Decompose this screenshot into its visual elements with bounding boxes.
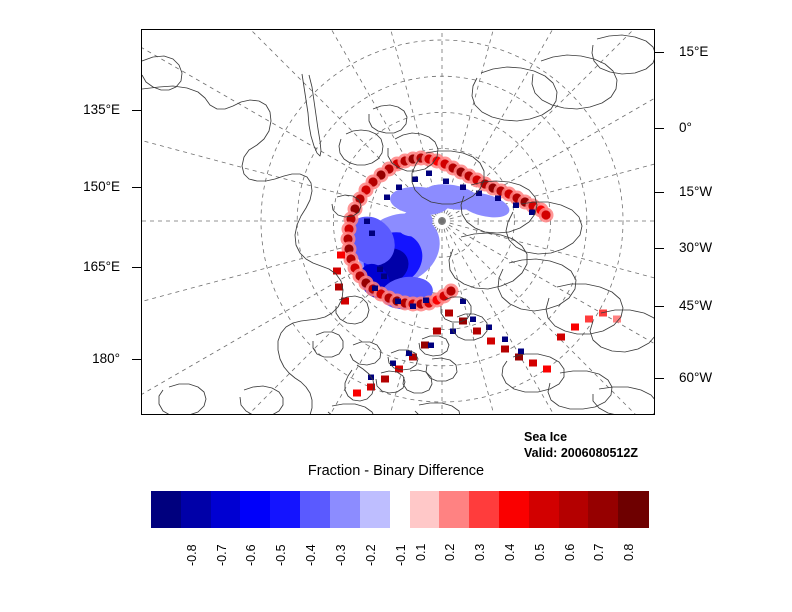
colorbar-tick-label: 0.1 [415, 544, 428, 561]
coastline-segment [502, 354, 564, 392]
coastline-segment [369, 105, 407, 133]
right-axis-label: 45°W [679, 299, 712, 313]
coastline-segment [332, 195, 361, 217]
coastline-segment [415, 403, 460, 414]
right-axis-label: 0° [679, 121, 692, 135]
right-axis-tick [655, 192, 664, 193]
left-axis-label: 150°E [60, 180, 120, 194]
coastline-segment [449, 233, 527, 289]
variable-label: Sea Ice [524, 430, 638, 446]
coastline-segment [142, 56, 182, 90]
left-axis-label: 165°E [60, 260, 120, 274]
colorbar-tick-label: -0.2 [365, 544, 378, 566]
colorbar-tick-label: -0.1 [395, 544, 408, 566]
colorbar-segment-negative[interactable] [181, 491, 211, 528]
coastline-segment [339, 130, 383, 165]
field-annotation: Sea Ice Valid: 2006080512Z [524, 430, 638, 461]
colorbar[interactable] [151, 491, 648, 528]
coastline-segment [403, 370, 432, 393]
colorbar-segment-negative[interactable] [300, 491, 330, 528]
coastline-segment [441, 297, 471, 322]
colorbar-segment-negative[interactable] [240, 491, 270, 528]
coastline-segment [453, 314, 487, 340]
coastline-segment [302, 74, 321, 156]
left-axis-label: 135°E [60, 103, 120, 117]
coastline-segment [592, 35, 654, 74]
colorbar-segment-negative[interactable] [360, 491, 390, 528]
left-axis-tick [132, 187, 141, 188]
coastline-segment [590, 310, 654, 352]
colorbar-segment-positive[interactable] [529, 491, 559, 528]
colorbar-segment-positive[interactable] [588, 491, 618, 528]
colorbar-tick-label: 0.2 [444, 544, 457, 561]
colorbar-segment-positive[interactable] [559, 491, 589, 528]
colorbar-tick-label: -0.5 [275, 544, 288, 566]
coastline-segment [546, 284, 623, 334]
right-axis-tick [655, 378, 664, 379]
coastline-segment [548, 371, 612, 409]
left-axis-label: 180° [60, 352, 120, 366]
right-axis-label: 15°E [679, 45, 708, 59]
valid-time-label: Valid: 2006080512Z [524, 446, 638, 462]
coastline-segment [240, 386, 283, 414]
coastline-segment [498, 259, 576, 311]
coastline-segment [328, 404, 374, 414]
coastline-segment [532, 55, 617, 109]
colorbar-tick-label: 0.7 [593, 544, 606, 561]
colorbar-tick-label: -0.3 [335, 544, 348, 566]
left-axis-tick [132, 110, 141, 111]
coastline-segment [506, 202, 582, 254]
colorbar-tick-label: 0.4 [504, 544, 517, 561]
coastline-segment [412, 151, 484, 204]
figure-canvas: 135°E150°E165°E180° 15°E0°15°W30°W45°W60… [0, 0, 792, 612]
right-axis-tick [655, 128, 664, 129]
colorbar-segment-negative[interactable] [151, 491, 181, 528]
colorbar-tick-label: 0.5 [534, 544, 547, 561]
page-title: Fraction - Binary Difference [0, 463, 792, 479]
colorbar-segment-positive[interactable] [469, 491, 499, 528]
left-axis-tick [132, 359, 141, 360]
map-plot-area[interactable] [141, 29, 655, 415]
coastline-segment [419, 336, 449, 356]
colorbar-segment-positive[interactable] [499, 491, 529, 528]
right-axis-label: 15°W [679, 185, 712, 199]
colorbar-segment-positive[interactable] [410, 491, 440, 528]
coastline-segment [345, 365, 374, 401]
colorbar-segment-positive[interactable] [618, 491, 648, 528]
colorbar-tick-label: -0.4 [305, 544, 318, 566]
coastline-segment [313, 332, 343, 357]
coastline-layer [142, 30, 654, 414]
colorbar-tick-label: 0.6 [564, 544, 577, 561]
colorbar-tick-label: -0.7 [216, 544, 229, 566]
colorbar-segment-negative[interactable] [270, 491, 300, 528]
colorbar-tick-label: -0.8 [186, 544, 199, 566]
coastline-segment [461, 181, 537, 233]
colorbar-segment-negative[interactable] [211, 491, 241, 528]
right-axis-tick [655, 52, 664, 53]
right-axis-tick [655, 248, 664, 249]
colorbar-tick-label: 0.3 [474, 544, 487, 561]
colorbar-segment-positive[interactable] [439, 491, 469, 528]
right-axis-label: 30°W [679, 241, 712, 255]
right-axis-label: 60°W [679, 371, 712, 385]
colorbar-segment-negative[interactable] [330, 491, 360, 528]
colorbar-tick-label: -0.6 [245, 544, 258, 566]
coastline-segment [593, 387, 654, 414]
colorbar-tick-label: 0.8 [623, 544, 636, 561]
coastline-segment [142, 86, 343, 414]
coastline-segment [376, 371, 405, 393]
coastline-segment [388, 350, 418, 370]
coastline-segment [159, 384, 206, 414]
left-axis-tick [132, 267, 141, 268]
coastline-segment [472, 67, 557, 121]
coastline-segment [350, 342, 381, 365]
right-axis-tick [655, 306, 664, 307]
